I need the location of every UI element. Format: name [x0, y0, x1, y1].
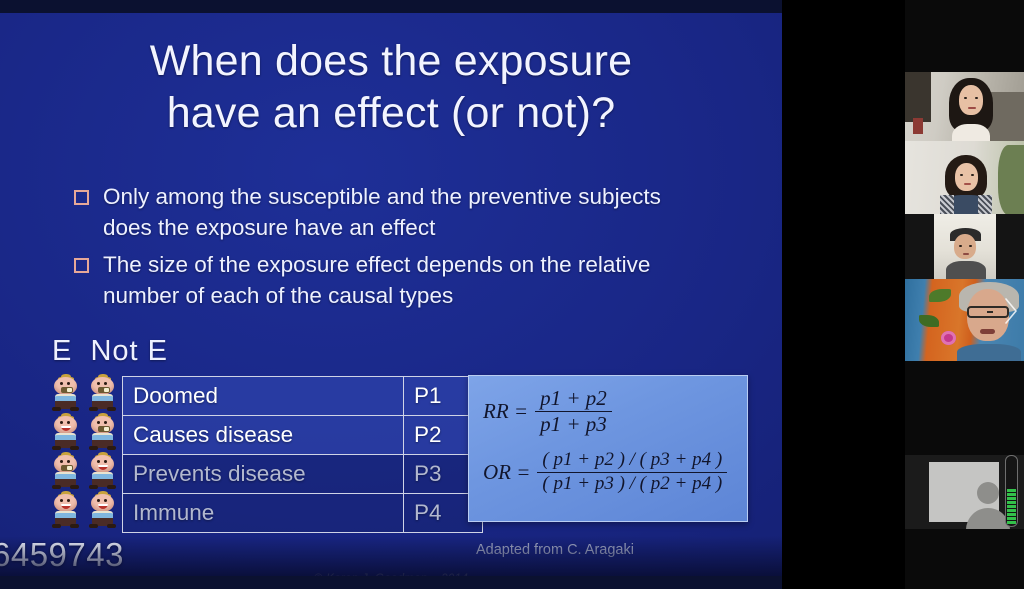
causal-types-table: Doomed P1 Causes disease P2 Prevents dis…	[122, 376, 483, 533]
table-row: Causes disease P2	[123, 416, 483, 455]
rr-numerator: p1 + p2	[535, 387, 612, 412]
participant-face	[938, 155, 994, 215]
slide-title-line-2: have an effect (or not)?	[0, 87, 782, 139]
table-cell-label: Prevents disease	[123, 455, 404, 494]
rr-denominator: p1 + p3	[535, 412, 612, 436]
table-row: Doomed P1	[123, 377, 483, 416]
person-figure-icon	[87, 452, 118, 489]
table-row: Immune P4	[123, 494, 483, 533]
audio-level-fill	[1007, 489, 1016, 525]
video-background-shadow	[905, 72, 931, 122]
person-figure-icon	[50, 374, 81, 411]
audio-level-meter	[1005, 455, 1018, 527]
meeting-screen: When does the exposure have an effect (o…	[0, 0, 1024, 589]
person-figure-icon	[87, 374, 118, 411]
bullet-item: Only among the susceptible and the preve…	[74, 181, 684, 243]
avatar-placeholder	[929, 462, 999, 522]
or-label: OR =	[483, 460, 530, 485]
bullet-list: Only among the susceptible and the preve…	[74, 181, 684, 317]
figure-row-prevents-disease	[50, 451, 118, 490]
table-cell-label: Causes disease	[123, 416, 404, 455]
or-numerator: ( p1 + p2 ) / ( p3 + p4 )	[537, 450, 727, 473]
overlay-number: 6459743	[0, 536, 124, 574]
relative-risk-formula: RR = p1 + p2 p1 + p3	[483, 387, 612, 435]
chevron-right-icon[interactable]	[1002, 296, 1020, 326]
exposure-columns-header: E Not E	[52, 334, 168, 368]
person-figure-icon	[50, 491, 81, 528]
square-bullet-icon	[74, 190, 89, 205]
presentation-slide: When does the exposure have an effect (o…	[0, 13, 782, 576]
participant-face	[946, 228, 986, 280]
causal-type-figures	[50, 373, 118, 529]
shared-slide-stage[interactable]: When does the exposure have an effect (o…	[0, 0, 782, 589]
table-row: Prevents disease P3	[123, 455, 483, 494]
avatar-person-icon	[977, 482, 999, 504]
video-background-plant	[998, 145, 1024, 215]
video-background-flower	[941, 331, 956, 345]
table-cell-label: Immune	[123, 494, 404, 533]
person-figure-icon	[50, 452, 81, 489]
figure-row-causes-disease	[50, 412, 118, 451]
figure-row-immune	[50, 490, 118, 529]
slide-title: When does the exposure have an effect (o…	[0, 35, 782, 139]
rr-label: RR =	[483, 399, 528, 424]
video-tile-participant-3[interactable]	[905, 214, 1024, 280]
bullet-text: The size of the exposure effect depends …	[103, 249, 684, 311]
or-denominator: ( p1 + p3 ) / ( p2 + p4 )	[537, 473, 727, 495]
odds-ratio-formula: OR = ( p1 + p2 ) / ( p3 + p4 ) ( p1 + p3…	[483, 450, 727, 494]
slide-title-line-1: When does the exposure	[0, 35, 782, 87]
person-figure-icon	[87, 491, 118, 528]
bullet-text: Only among the susceptible and the preve…	[103, 181, 684, 243]
video-background-object	[913, 118, 923, 134]
video-tile-participant-2[interactable]	[905, 141, 1024, 215]
person-figure-icon	[50, 413, 81, 450]
figure-row-doomed	[50, 373, 118, 412]
table-cell-label: Doomed	[123, 377, 404, 416]
person-figure-icon	[87, 413, 118, 450]
formula-box: RR = p1 + p2 p1 + p3 OR = ( p1 + p2 ) / …	[468, 375, 748, 522]
square-bullet-icon	[74, 258, 89, 273]
bullet-item: The size of the exposure effect depends …	[74, 249, 684, 311]
source-attribution: Adapted from C. Aragaki	[476, 542, 634, 558]
